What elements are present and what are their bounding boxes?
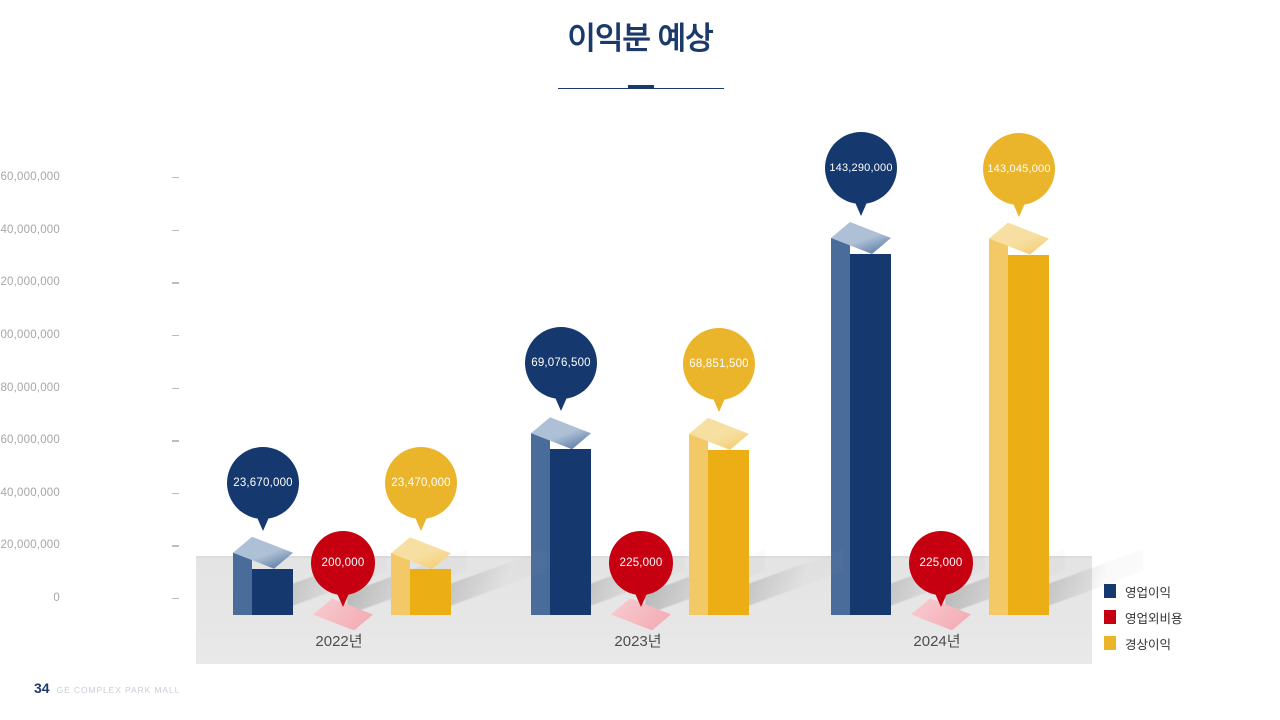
data-label-value: 23,670,000 [227, 447, 299, 519]
footer: 34 GE COMPLEX PARK MALL [34, 680, 180, 696]
page-number: 34 [34, 680, 50, 696]
legend-swatch [1104, 610, 1116, 624]
legend-item-영업이익[interactable]: 영업이익 [1104, 578, 1183, 604]
data-label-callout: 200,000 [311, 531, 375, 609]
bar-경상이익-2023년[interactable] [689, 418, 749, 615]
data-label-tail [854, 200, 868, 216]
data-label-tail [934, 591, 948, 607]
legend-item-영업외비용[interactable]: 영업외비용 [1104, 604, 1183, 630]
bar-face-left [391, 553, 410, 615]
bar-face-left [233, 553, 252, 615]
data-label-tail [336, 591, 350, 607]
data-label-value: 69,076,500 [525, 327, 597, 399]
data-label-value: 200,000 [311, 531, 375, 595]
data-label-value: 68,851,500 [683, 328, 755, 400]
data-label-callout: 69,076,500 [525, 327, 597, 413]
legend-swatch [1104, 636, 1116, 650]
x-axis-label: 2022년 [239, 630, 439, 651]
data-label-callout: 143,290,000 [825, 132, 897, 218]
y-axis-tick-mark [172, 545, 179, 546]
y-axis-tick-mark [172, 440, 179, 441]
data-label-tail [256, 515, 270, 531]
y-axis-tick-mark [172, 493, 179, 494]
bar-face-right [708, 450, 749, 615]
bar-face-left [689, 434, 708, 615]
y-axis-tick-mark [172, 388, 179, 389]
x-axis-label: 2024년 [837, 630, 1037, 651]
y-axis-tick-mark [172, 282, 179, 283]
data-label-callout: 23,670,000 [227, 447, 299, 533]
legend-label: 경상이익 [1125, 634, 1171, 653]
chart-legend: 영업이익영업외비용경상이익 [1104, 578, 1183, 656]
bar-face-right [1008, 255, 1049, 615]
data-label-callout: 23,470,000 [385, 447, 457, 533]
bar-face-left [531, 433, 550, 615]
data-label-value: 143,045,000 [983, 133, 1055, 205]
y-axis-tick-label: 20,000,000 [0, 539, 60, 551]
bar-영업이익-2022년[interactable] [233, 537, 293, 615]
data-label-tail [414, 515, 428, 531]
y-axis-tick-label: 80,000,000 [0, 382, 60, 394]
y-axis-tick-label: 160,000,000 [0, 171, 60, 183]
legend-label: 영업외비용 [1125, 608, 1183, 627]
y-axis-tick-mark [172, 598, 179, 599]
data-label-callout: 143,045,000 [983, 133, 1055, 219]
legend-swatch [1104, 584, 1116, 598]
brand-name: GE COMPLEX PARK MALL [57, 685, 181, 695]
y-axis-tick-mark [172, 335, 179, 336]
y-axis-tick-mark [172, 177, 179, 178]
bar-경상이익-2022년[interactable] [391, 537, 451, 615]
y-axis-tick-mark [172, 230, 179, 231]
data-label-callout: 225,000 [609, 531, 673, 609]
data-label-tail [712, 396, 726, 412]
bar-face-left [989, 239, 1008, 615]
x-axis-label: 2023년 [538, 630, 738, 651]
bar-face-right [550, 449, 591, 615]
bar-face-right [252, 569, 293, 615]
y-axis-tick-label: 140,000,000 [0, 224, 60, 236]
data-label-tail [554, 395, 568, 411]
data-label-value: 225,000 [609, 531, 673, 595]
data-label-tail [634, 591, 648, 607]
legend-item-경상이익[interactable]: 경상이익 [1104, 630, 1183, 656]
data-label-value: 225,000 [909, 531, 973, 595]
y-axis-tick-label: 0 [0, 592, 60, 604]
chart-plot-area: 160,000,000140,000,000120,000,000100,000… [0, 0, 1280, 720]
legend-label: 영업이익 [1125, 582, 1171, 601]
bar-경상이익-2024년[interactable] [989, 223, 1049, 615]
bar-face-right [410, 569, 451, 615]
bar-face-right [850, 254, 891, 615]
y-axis-tick-label: 40,000,000 [0, 487, 60, 499]
y-axis-tick-label: 120,000,000 [0, 276, 60, 288]
bar-영업이익-2023년[interactable] [531, 417, 591, 615]
y-axis-tick-label: 60,000,000 [0, 434, 60, 446]
data-label-value: 23,470,000 [385, 447, 457, 519]
y-axis-tick-label: 100,000,000 [0, 329, 60, 341]
data-label-callout: 68,851,500 [683, 328, 755, 414]
data-label-tail [1012, 201, 1026, 217]
data-label-value: 143,290,000 [825, 132, 897, 204]
data-label-callout: 225,000 [909, 531, 973, 609]
